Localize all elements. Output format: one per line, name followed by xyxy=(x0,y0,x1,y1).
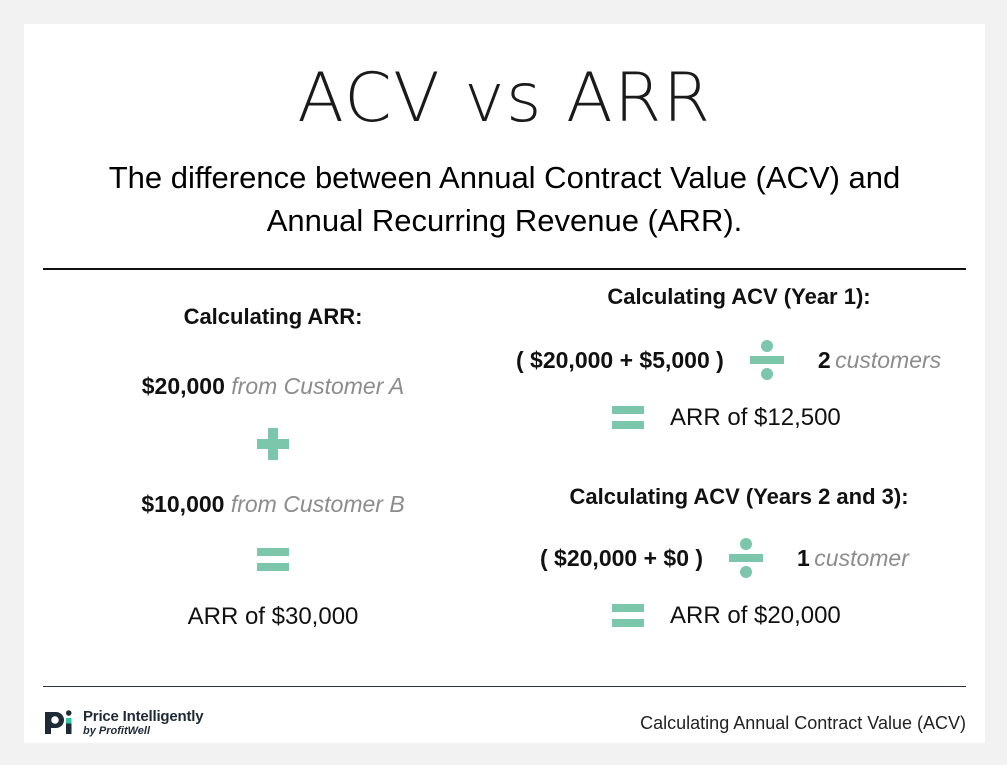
acv-year1-equation: ( $20,000 + $5,000 ) 2 customers xyxy=(494,342,984,378)
equals-icon xyxy=(612,604,644,628)
price-intelligently-logo-icon xyxy=(43,709,73,737)
brand-text: Price Intelligently by ProfitWell xyxy=(83,709,203,737)
footer-divider xyxy=(43,686,966,687)
divide-dot-bottom xyxy=(740,566,752,578)
divide-dot-top xyxy=(740,538,752,550)
acv-years23-heading: Calculating ACV (Years 2 and 3): xyxy=(494,482,984,512)
divide-dot-top xyxy=(761,340,773,352)
acv-years23-expression: ( $20,000 + $0 ) xyxy=(540,545,703,572)
acv-year1-heading: Calculating ACV (Year 1): xyxy=(494,282,984,312)
arr-row-2: $10,000 from Customer B xyxy=(38,488,508,520)
equals-icon xyxy=(612,406,644,430)
infographic-card: ACV vs ARR The difference between Annual… xyxy=(24,24,985,743)
brand-sub: by ProfitWell xyxy=(83,726,203,737)
arr-plus-row xyxy=(38,428,508,460)
arr-heading: Calculating ARR: xyxy=(38,302,508,332)
acv-years23-equation: ( $20,000 + $0 ) 1 customer xyxy=(494,540,984,576)
acv-year1-result: ARR of $12,500 xyxy=(670,404,841,432)
divide-icon xyxy=(729,540,763,576)
divide-bar xyxy=(729,554,763,562)
header-divider xyxy=(43,268,966,270)
arr-row-2-amount: $10,000 xyxy=(141,491,224,517)
arr-column: Calculating ARR: $20,000 from Customer A… xyxy=(38,282,508,633)
subtitle-line-1: The difference between Annual Contract V… xyxy=(84,156,925,199)
footer: Price Intelligently by ProfitWell Calcul… xyxy=(43,702,966,744)
infographic-canvas: ACV vs ARR The difference between Annual… xyxy=(0,0,1007,765)
acv-year1-result-row: ARR of $12,500 xyxy=(494,404,984,432)
page-title: ACV vs ARR xyxy=(24,60,985,138)
acv-years23-result: ARR of $20,000 xyxy=(670,602,841,630)
arr-equals-row xyxy=(38,548,508,572)
arr-row-1-note: from Customer A xyxy=(231,373,404,399)
body-area: Calculating ARR: $20,000 from Customer A… xyxy=(24,282,985,682)
acv-column: Calculating ACV (Year 1): ( $20,000 + $5… xyxy=(494,282,984,630)
equals-icon xyxy=(257,548,289,572)
acv-years23-result-row: ARR of $20,000 xyxy=(494,602,984,630)
acv-years23-divisor-note: customer xyxy=(814,545,909,572)
acv-year1-divisor: 2 xyxy=(818,347,831,374)
arr-row-2-note: from Customer B xyxy=(231,491,405,517)
page-subtitle: The difference between Annual Contract V… xyxy=(84,156,925,242)
acv-year1-divisor-note: customers xyxy=(835,347,941,374)
arr-row-1: $20,000 from Customer A xyxy=(38,370,508,402)
brand-logo: Price Intelligently by ProfitWell xyxy=(43,709,203,737)
brand-name: Price Intelligently xyxy=(83,709,203,724)
acv-years23-divisor: 1 xyxy=(797,545,810,572)
subtitle-line-2: Annual Recurring Revenue (ARR). xyxy=(84,199,925,242)
divide-icon xyxy=(750,342,784,378)
arr-result: ARR of $30,000 xyxy=(188,603,359,630)
divide-bar xyxy=(750,356,784,364)
divide-dot-bottom xyxy=(761,368,773,380)
arr-row-1-amount: $20,000 xyxy=(142,373,225,399)
acv-year1-expression: ( $20,000 + $5,000 ) xyxy=(516,347,724,374)
footer-caption: Calculating Annual Contract Value (ACV) xyxy=(640,713,966,734)
plus-icon xyxy=(257,428,289,460)
arr-result-row: ARR of $30,000 xyxy=(38,600,508,633)
